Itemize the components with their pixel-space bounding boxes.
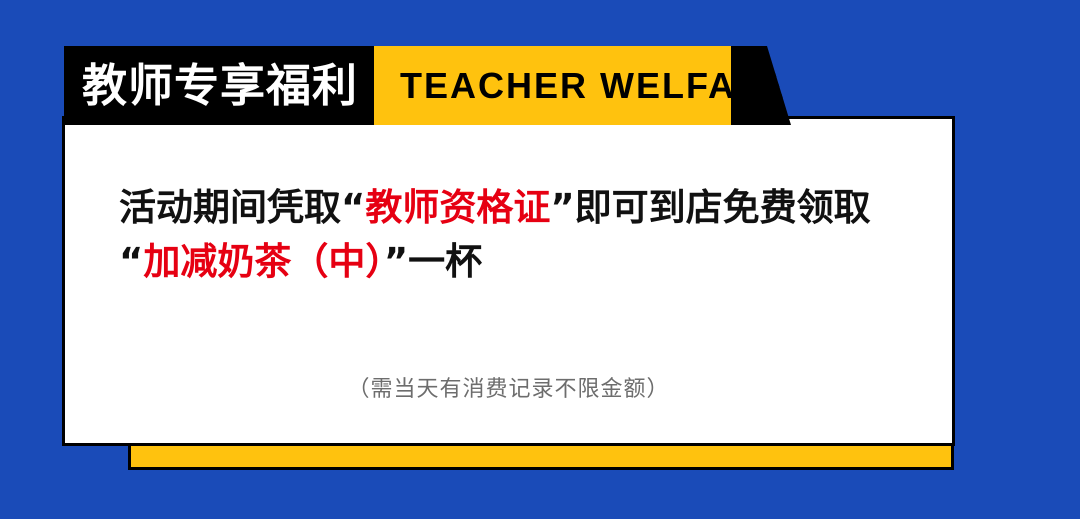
offer-line-1-post: ”即可到店免费领取 bbox=[550, 186, 870, 229]
banner-title-en-container: TEACHER WELFARE bbox=[374, 46, 731, 125]
banner-title-en: TEACHER WELFARE bbox=[374, 65, 790, 107]
title-banner: 教师专享福利 TEACHER WELFARE bbox=[64, 46, 791, 125]
offer-condition-note: （需当天有消费记录不限金额） bbox=[65, 371, 952, 403]
offer-line-2-post: ”一杯 bbox=[384, 240, 482, 283]
offer-line-2-pre: “ bbox=[119, 240, 143, 283]
offer-line-2-highlight: 加减奶茶（中） bbox=[143, 240, 384, 283]
offer-line-1-pre: 活动期间凭取“ bbox=[119, 186, 365, 229]
offer-line-2: “加减奶茶（中）”一杯 bbox=[119, 235, 919, 289]
offer-line-1: 活动期间凭取“教师资格证”即可到店免费领取 bbox=[119, 181, 919, 235]
offer-description: 活动期间凭取“教师资格证”即可到店免费领取 “加减奶茶（中）”一杯 bbox=[119, 181, 919, 288]
offer-line-1-highlight: 教师资格证 bbox=[365, 186, 550, 229]
banner-title-cn: 教师专享福利 bbox=[64, 46, 374, 125]
promo-poster: 活动期间凭取“教师资格证”即可到店免费领取 “加减奶茶（中）”一杯 （需当天有消… bbox=[0, 0, 1080, 519]
content-card: 活动期间凭取“教师资格证”即可到店免费领取 “加减奶茶（中）”一杯 （需当天有消… bbox=[62, 116, 955, 446]
card-shadow-bottom bbox=[128, 446, 954, 470]
